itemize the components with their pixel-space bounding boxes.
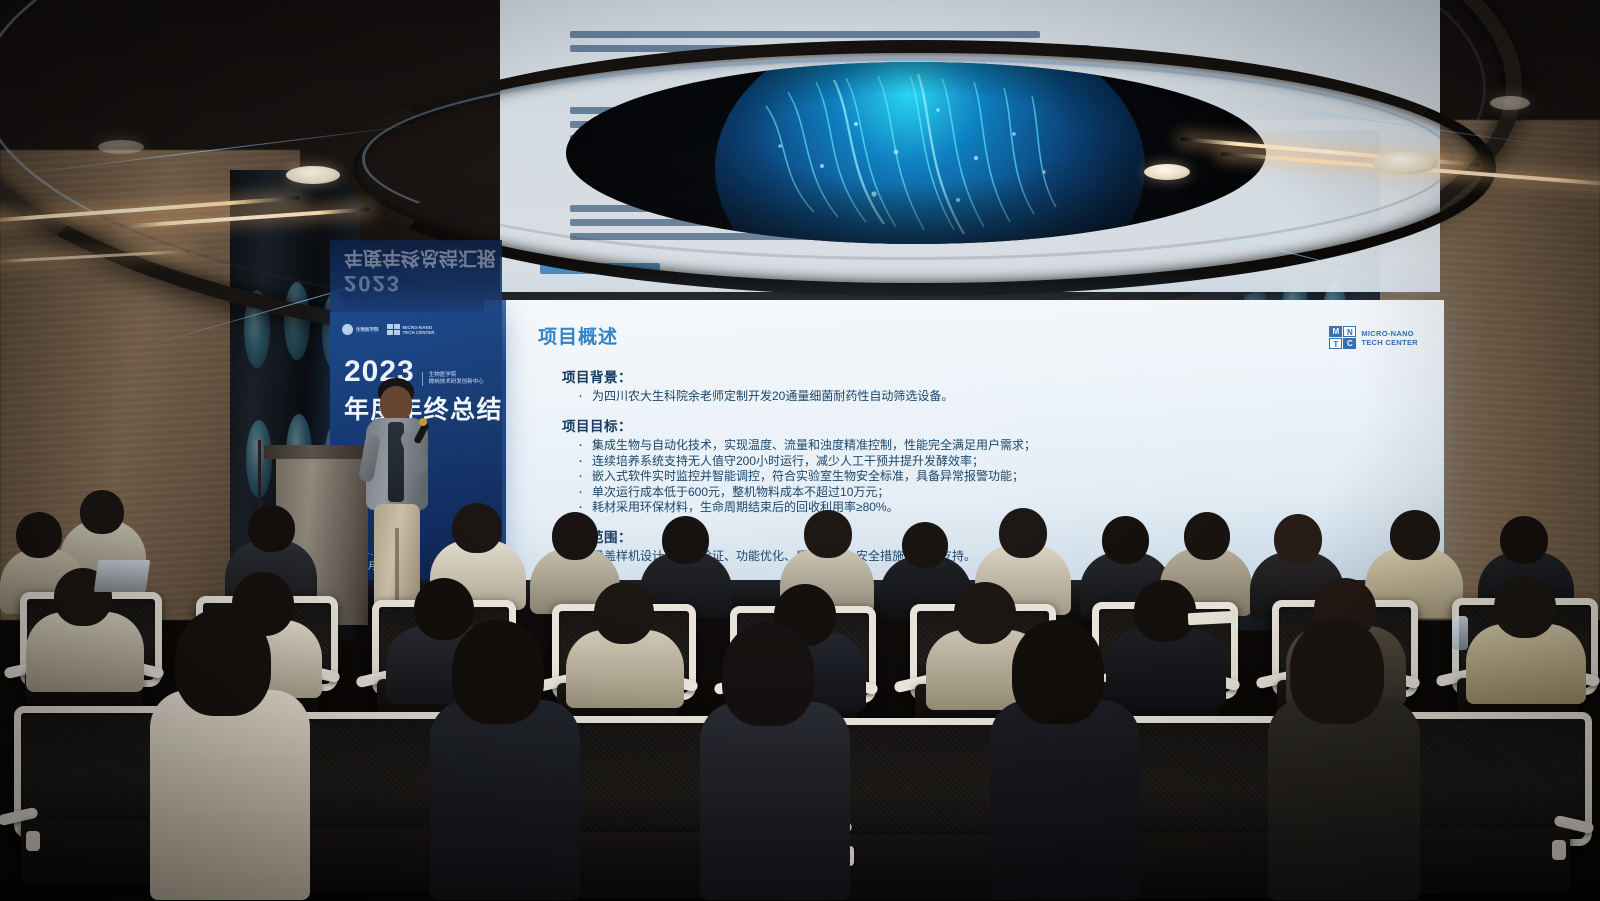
conference-room-photo: 项目概述 M N T C MICRO-NANO TECH CENTER 项目背景… (0, 0, 1600, 901)
notebook[interactable] (1188, 611, 1237, 625)
attendee-head (80, 490, 124, 534)
banner-logo-left: 生物医学院 (342, 324, 379, 335)
logo-text: MICRO-NANO TECH CENTER (1361, 329, 1418, 347)
laptop[interactable] (94, 560, 150, 592)
attendee-head (414, 578, 474, 640)
attendee-torso (430, 700, 580, 900)
attendee-head (1274, 514, 1322, 564)
attendee-head (1184, 512, 1230, 560)
banner-logo-left-text: 生物医学院 (356, 327, 379, 332)
ceiling-light-puck (1490, 96, 1530, 110)
logo-letter: C (1343, 338, 1356, 349)
attendee-torso (150, 690, 310, 900)
bullet-item: 集成生物与自动化技术，实现温度、流量和浊度精准控制，性能完全满足用户需求； (592, 438, 1404, 453)
section-title: 项目目标： (562, 415, 1404, 435)
bullet-item: 嵌入式软件实时监控并智能调控，符合实验室生物安全标准，具备异常报警功能； (592, 469, 1404, 484)
slide-section: 项目背景： 为四川农大生科院余老师定制开发20通量细菌耐药性自动筛选设备。 (562, 366, 1404, 404)
attendee-head (248, 505, 295, 552)
attendee-head (999, 508, 1047, 558)
water-bottle[interactable] (1452, 616, 1468, 650)
attendee-torso (990, 700, 1140, 900)
mn-tc-icon (387, 324, 400, 335)
attendee-head (452, 503, 502, 553)
slide-section: 项目目标： 集成生物与自动化技术，实现温度、流量和浊度精准控制，性能完全满足用户… (562, 415, 1404, 515)
section-bullets: 集成生物与自动化技术，实现温度、流量和浊度精准控制，性能完全满足用户需求； 连续… (562, 438, 1404, 515)
attendee-head (452, 620, 544, 724)
section-title: 项目背景： (562, 366, 1404, 386)
ceiling-light-puck (1144, 164, 1190, 180)
attendee-head (902, 522, 948, 568)
slide-logo: M N T C MICRO-NANO TECH CENTER (1329, 326, 1418, 349)
banner-reflection-title: 年度年终总结汇报 (344, 246, 496, 273)
banner-logo-right: MICRO-NANO TECH CENTER (387, 324, 435, 335)
bullet-item: 为四川农大生科院余老师定制开发20通量细菌耐药性自动筛选设备。 (592, 389, 1404, 404)
attendee-head (954, 582, 1016, 644)
ceiling-light-puck (98, 140, 144, 154)
bullet-item: 耗材采用环保材料，生命周期结束后的回收利用率≥80%。 (592, 500, 1404, 515)
attendee-head (1290, 618, 1384, 724)
attendee-head (175, 608, 271, 716)
attendee-head (1102, 516, 1149, 564)
attendee-head (804, 510, 852, 558)
bullet-item: 连续培养系统支持无人值守200小时运行，减少人工干预并提升发酵效率； (592, 454, 1404, 469)
attendee-torso (700, 702, 850, 900)
logo-letter: T (1329, 338, 1342, 349)
logo-letter: M (1329, 326, 1342, 337)
presenter-trouser-seam (395, 528, 399, 608)
banner-logos: 生物医学院 MICRO-NANO TECH CENTER (342, 324, 435, 335)
section-bullets: 为四川农大生科院余老师定制开发20通量细菌耐药性自动筛选设备。 (562, 389, 1404, 404)
logo-line-2: TECH CENTER (1361, 338, 1418, 347)
attendee-head (722, 622, 814, 726)
presenter-head (380, 386, 412, 422)
mic-stand (258, 440, 261, 510)
attendee-head (1390, 510, 1440, 560)
ceiling-light-puck (1372, 152, 1438, 174)
slide-title: 项目概述 (538, 322, 618, 349)
attendee-head (1012, 620, 1104, 724)
banner-ceiling-reflection: 年度年终总结汇报 2023 (330, 240, 502, 312)
ceiling-dome-reflection (566, 62, 1266, 244)
ceiling-light-puck (286, 166, 340, 184)
attendee-head (16, 512, 62, 558)
attendee-head (1134, 580, 1196, 642)
attendee-head (552, 512, 598, 560)
banner-reflection-year: 2023 (344, 270, 401, 296)
attendee-head (1500, 516, 1548, 564)
logo-line-1: MICRO-NANO (1361, 329, 1418, 338)
attendee-head (662, 516, 709, 564)
banner-logo-right-text: MICRO-NANO TECH CENTER (403, 325, 435, 335)
org-dot-icon (342, 324, 353, 335)
attendee-torso (1268, 698, 1420, 900)
logo-mark-icon: M N T C (1329, 326, 1356, 349)
microphone-head-icon (419, 418, 427, 426)
logo-letter: N (1343, 326, 1356, 337)
banner-logo-right-line1: MICRO-NANO (403, 325, 435, 330)
attendee-head (1494, 576, 1556, 638)
banner-logo-right-line2: TECH CENTER (403, 330, 435, 335)
bullet-item: 单次运行成本低于600元，整机物料成本不超过10万元； (592, 485, 1404, 500)
attendee-head (594, 582, 654, 644)
